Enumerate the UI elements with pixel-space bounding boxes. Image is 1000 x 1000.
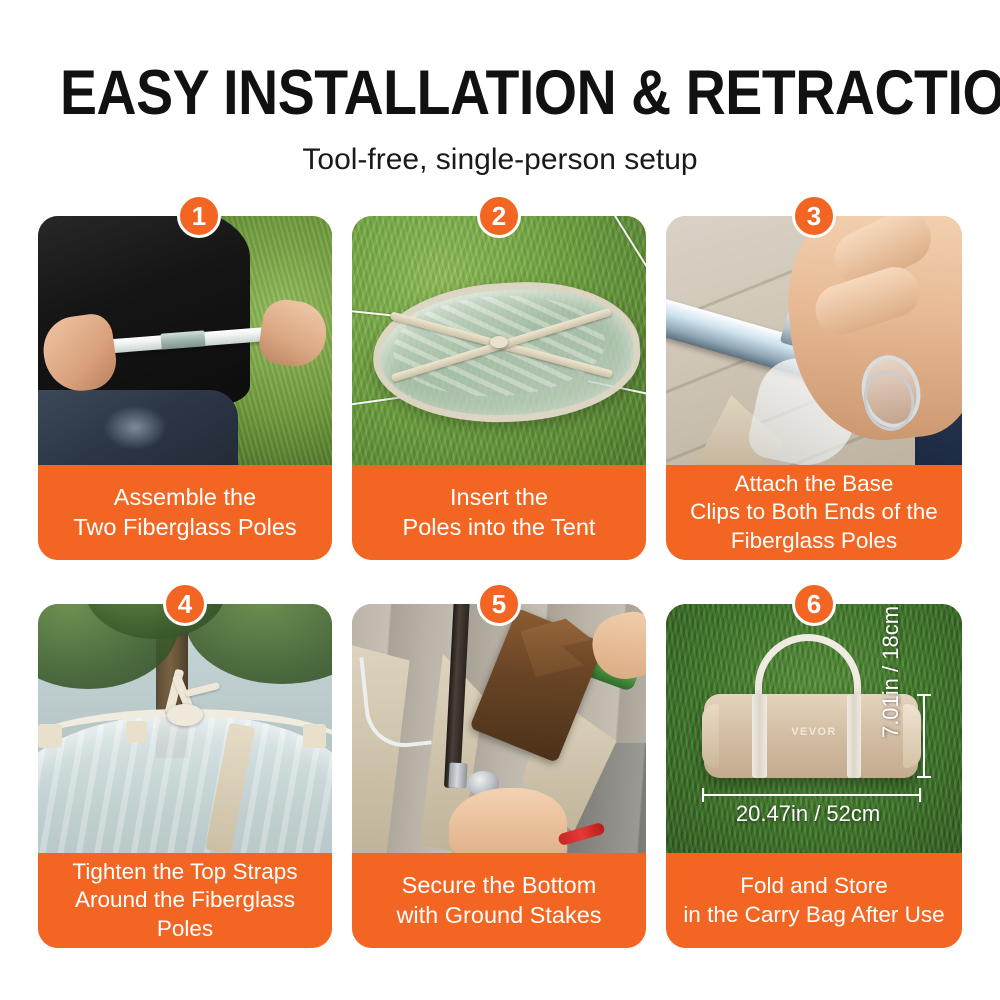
- step-caption-3-line-1: Attach the Base: [690, 470, 938, 498]
- step-caption-3-line-2: Clips to Both Ends of the: [690, 498, 938, 526]
- step-caption-3: Attach the Base Clips to Both Ends of th…: [666, 465, 962, 560]
- step-caption-1: Assemble the Two Fiberglass Poles: [38, 465, 332, 560]
- step-caption-4-line-1: Tighten the Top Straps: [46, 858, 324, 886]
- step-photo-1: [38, 216, 332, 465]
- step-caption-1-line-1: Assemble the: [73, 483, 296, 513]
- step-photo-2: [352, 216, 646, 465]
- step-badge-5-number: 5: [492, 591, 506, 617]
- step-badge-1: 1: [177, 194, 221, 238]
- step-card-1[interactable]: Assemble the Two Fiberglass Poles: [38, 216, 332, 560]
- step-badge-2-number: 2: [492, 203, 506, 229]
- step-caption-1-line-2: Two Fiberglass Poles: [73, 513, 296, 543]
- steps-grid: 1 Assemble the Two Fiberglass Poles 2: [0, 0, 1000, 1000]
- step-card-4[interactable]: Tighten the Top Straps Around the Fiberg…: [38, 604, 332, 948]
- step-photo-5: [352, 604, 646, 853]
- step-photo-4: [38, 604, 332, 853]
- step-caption-5-line-1: Secure the Bottom: [396, 871, 601, 901]
- step-caption-6: Fold and Store in the Carry Bag After Us…: [666, 853, 962, 948]
- vevor-logo: VEVOR: [787, 724, 840, 741]
- step-badge-4: 4: [163, 582, 207, 626]
- step-caption-5-line-2: with Ground Stakes: [396, 901, 601, 931]
- height-dimension-line: [923, 694, 925, 779]
- step-caption-5: Secure the Bottom with Ground Stakes: [352, 853, 646, 948]
- step-badge-3-number: 3: [807, 203, 821, 229]
- height-dimension-label: 7.01in / 18cm: [878, 604, 904, 761]
- step-caption-2-line-2: Poles into the Tent: [403, 513, 596, 543]
- step-badge-2: 2: [477, 194, 521, 238]
- width-dimension-line: [702, 794, 921, 796]
- step-caption-4-line-2: Around the Fiberglass Poles: [46, 886, 324, 943]
- step-caption-2-line-1: Insert the: [403, 483, 596, 513]
- step-badge-3: 3: [792, 194, 836, 238]
- step-caption-6-line-1: Fold and Store: [683, 872, 944, 900]
- step-card-3[interactable]: Attach the Base Clips to Both Ends of th…: [666, 216, 962, 560]
- step-photo-3: [666, 216, 962, 465]
- step-card-6[interactable]: VEVOR 20.47in / 52cm 7.01in / 18cm Fold …: [666, 604, 962, 948]
- step-badge-6-number: 6: [807, 591, 821, 617]
- width-dimension-label: 20.47in / 52cm: [690, 801, 927, 827]
- step-card-5[interactable]: Secure the Bottom with Ground Stakes: [352, 604, 646, 948]
- step-badge-4-number: 4: [178, 591, 192, 617]
- step-caption-2: Insert the Poles into the Tent: [352, 465, 646, 560]
- step-caption-6-line-2: in the Carry Bag After Use: [683, 901, 944, 929]
- step-badge-6: 6: [792, 582, 836, 626]
- step-badge-1-number: 1: [192, 203, 206, 229]
- step-caption-3-line-3: Fiberglass Poles: [690, 527, 938, 555]
- step-caption-4: Tighten the Top Straps Around the Fiberg…: [38, 853, 332, 948]
- step-badge-5: 5: [477, 582, 521, 626]
- step-photo-6: VEVOR 20.47in / 52cm 7.01in / 18cm: [666, 604, 962, 853]
- step-card-2[interactable]: Insert the Poles into the Tent: [352, 216, 646, 560]
